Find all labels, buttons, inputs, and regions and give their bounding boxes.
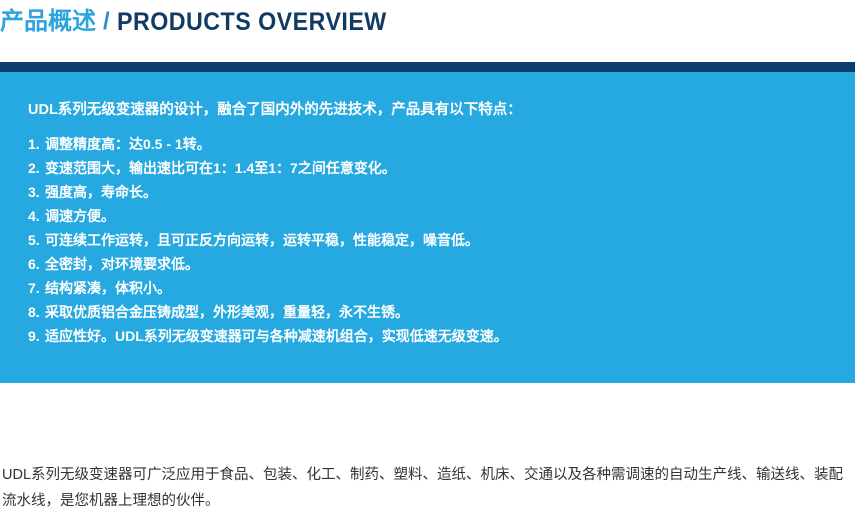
list-item-number: 2. (28, 156, 45, 180)
list-item: 3. 强度高，寿命长。 (28, 180, 827, 204)
list-item: 8. 采取优质铝合金压铸成型，外形美观，重量轻，永不生锈。 (28, 300, 827, 324)
list-item-number: 9. (28, 324, 45, 348)
page-title-separator: / (103, 10, 110, 34)
list-item-number: 5. (28, 228, 45, 252)
list-item-text: 结构紧凑，体积小。 (45, 276, 827, 300)
list-item-text: 采取优质铝合金压铸成型，外形美观，重量轻，永不生锈。 (45, 300, 827, 324)
list-item-number: 3. (28, 180, 45, 204)
list-item-text: 调速方便。 (45, 204, 827, 228)
list-item: 5. 可连续工作运转，且可正反方向运转，运转平稳，性能稳定，噪音低。 (28, 228, 827, 252)
page-title-english: PRODUCTS OVERVIEW (117, 10, 387, 35)
closing-paragraph: UDL系列无级变速器可广泛应用于食品、包装、化工、制药、塑料、造纸、机床、交通以… (2, 462, 847, 507)
list-item: 9. 适应性好。UDL系列无级变速器可与各种减速机组合，实现低速无级变速。 (28, 324, 827, 348)
list-item-number: 6. (28, 252, 45, 276)
product-overview-page: 产品概述 / PRODUCTS OVERVIEW UDL系列无级变速器的设计，融… (0, 0, 855, 507)
feature-panel: UDL系列无级变速器的设计，融合了国内外的先进技术，产品具有以下特点： 1. 调… (0, 62, 855, 383)
list-item: 4. 调速方便。 (28, 204, 827, 228)
list-item-text: 全密封，对环境要求低。 (45, 252, 827, 276)
list-item: 7. 结构紧凑，体积小。 (28, 276, 827, 300)
panel-top-accent-bar (0, 62, 855, 72)
list-item: 1. 调整精度高：达0.5 - 1转。 (28, 132, 827, 156)
list-item-text: 变速范围大，输出速比可在1：1.4至1：7之间任意变化。 (45, 156, 827, 180)
list-item-number: 1. (28, 132, 45, 156)
feature-list: 1. 调整精度高：达0.5 - 1转。 2. 变速范围大，输出速比可在1：1.4… (28, 132, 827, 348)
list-item-text: 调整精度高：达0.5 - 1转。 (45, 132, 827, 156)
panel-body: UDL系列无级变速器的设计，融合了国内外的先进技术，产品具有以下特点： 1. 调… (0, 72, 855, 383)
list-item-number: 8. (28, 300, 45, 324)
list-item-number: 4. (28, 204, 45, 228)
page-title-chinese: 产品概述 (0, 10, 96, 34)
list-item: 2. 变速范围大，输出速比可在1：1.4至1：7之间任意变化。 (28, 156, 827, 180)
feature-panel-heading: UDL系列无级变速器的设计，融合了国内外的先进技术，产品具有以下特点： (28, 100, 827, 120)
list-item-number: 7. (28, 276, 45, 300)
list-item-text: 适应性好。UDL系列无级变速器可与各种减速机组合，实现低速无级变速。 (45, 324, 827, 348)
list-item-text: 可连续工作运转，且可正反方向运转，运转平稳，性能稳定，噪音低。 (45, 228, 827, 252)
list-item-text: 强度高，寿命长。 (45, 180, 827, 204)
page-title: 产品概述 / PRODUCTS OVERVIEW (0, 4, 407, 40)
list-item: 6. 全密封，对环境要求低。 (28, 252, 827, 276)
